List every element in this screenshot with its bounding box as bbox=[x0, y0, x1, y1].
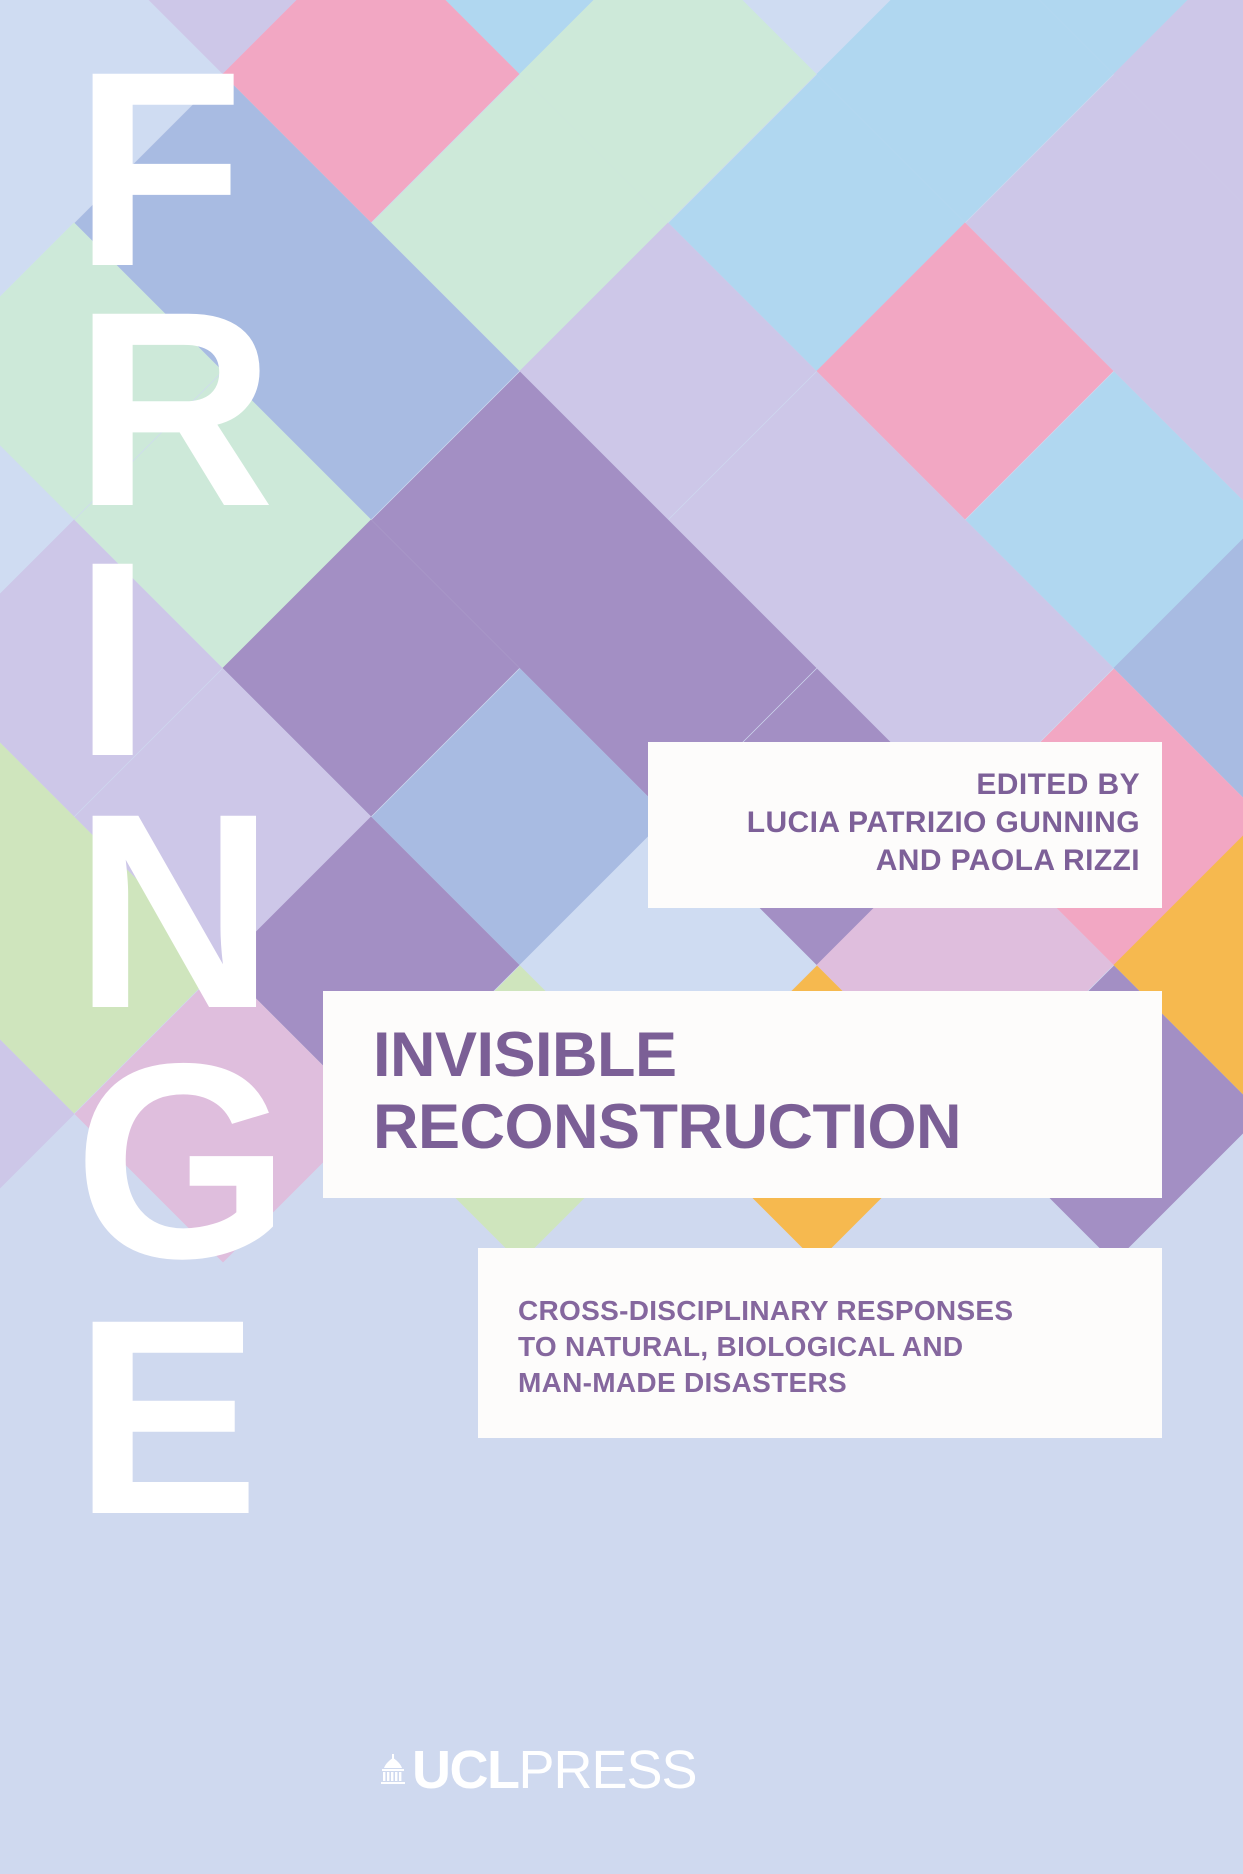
logo-ucl-text: UCL bbox=[412, 1743, 518, 1797]
title-line-2: RECONSTRUCTION bbox=[373, 1091, 1162, 1163]
subtitle-line-2: TO NATURAL, BIOLOGICAL AND bbox=[518, 1329, 1162, 1365]
title-line-1: INVISIBLE bbox=[373, 1019, 1162, 1091]
book-cover: F R I N G E EDITED BY LUCIA PATRIZIO GUN… bbox=[0, 0, 1243, 1874]
editors-line-3: AND PAOLA RIZZI bbox=[648, 842, 1140, 880]
diamond-mosaic-background bbox=[0, 0, 1243, 1874]
editors-panel: EDITED BY LUCIA PATRIZIO GUNNING AND PAO… bbox=[648, 742, 1162, 908]
ucl-portico-icon bbox=[380, 1754, 406, 1784]
ucl-press-logo: UCL PRESS bbox=[380, 1742, 697, 1798]
title-panel: INVISIBLE RECONSTRUCTION bbox=[323, 991, 1162, 1198]
subtitle-line-1: CROSS-DISCIPLINARY RESPONSES bbox=[518, 1293, 1162, 1329]
subtitle-line-3: MAN-MADE DISASTERS bbox=[518, 1365, 1162, 1401]
editors-line-1: EDITED BY bbox=[648, 766, 1140, 804]
editors-line-2: LUCIA PATRIZIO GUNNING bbox=[648, 804, 1140, 842]
subtitle-panel: CROSS-DISCIPLINARY RESPONSES TO NATURAL,… bbox=[478, 1248, 1162, 1438]
logo-press-text: PRESS bbox=[518, 1743, 696, 1797]
